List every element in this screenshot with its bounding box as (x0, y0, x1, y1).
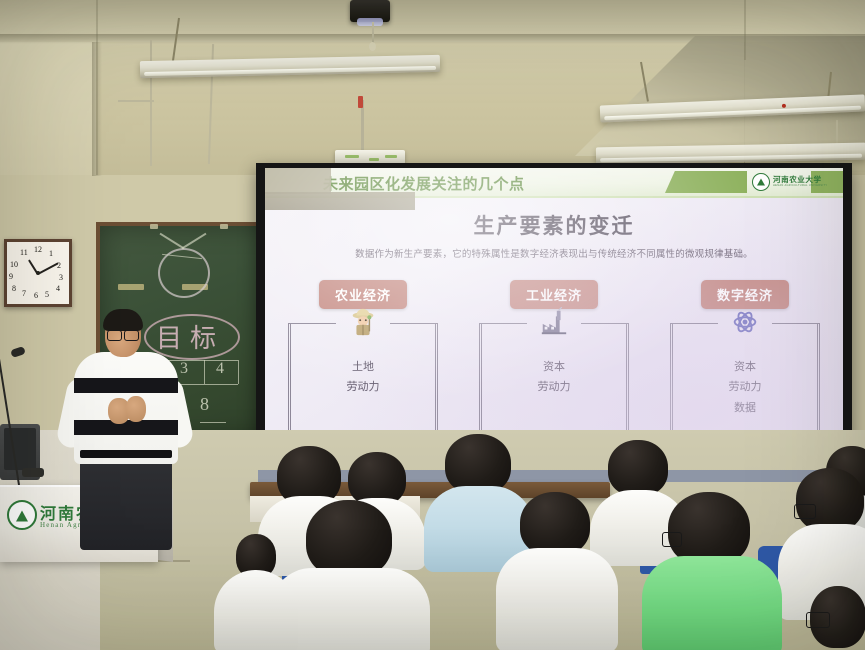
university-seal-icon (7, 500, 37, 530)
card-digital-economy: 数字经济 资本 劳动力 数据 (665, 280, 825, 435)
projector-cord (372, 22, 374, 44)
clock-numeral: 7 (22, 289, 26, 298)
lecturer-hand-right (126, 396, 146, 422)
wall-seam (96, 0, 98, 175)
university-name-cn: 河南农业大学 (773, 176, 827, 184)
chalk-number: 3 (180, 360, 188, 378)
projector-cord-weight (369, 42, 376, 51)
card-items: 土地 劳动力 (288, 357, 438, 398)
wall-conduit (150, 40, 152, 166)
clock-numeral: 10 (10, 260, 18, 269)
clock-numeral: 5 (45, 290, 49, 299)
card-bracket: 资本 劳动力 (479, 317, 629, 435)
slide-subtitle: 数据作为新生产要素，它的特殊属性是数字经济表现出与传统经济不同属性的微观规律基础… (299, 248, 809, 261)
card-agricultural-economy: 农业经济 土地 劳动力 (283, 280, 443, 435)
clock-numeral: 6 (34, 291, 38, 300)
university-name-en: HENAN AGRICULTURAL UNIVERSITY (773, 185, 827, 188)
card-bracket: 土地 劳动力 (288, 317, 438, 435)
factory-icon (539, 307, 569, 337)
microphone-base (22, 468, 44, 477)
slide-header-title: 未来园区化发展关注的几个点 (323, 173, 525, 194)
university-logo: 河南农业大学 HENAN AGRICULTURAL UNIVERSITY (752, 172, 808, 192)
lecturer-trousers (80, 455, 172, 550)
header-chevron-shape (665, 171, 747, 193)
card-items: 资本 劳动力 数据 (670, 357, 820, 418)
projector-washout-patch (265, 168, 331, 194)
clock-center-pin (36, 271, 40, 275)
clock-numeral: 3 (59, 273, 63, 282)
clock-numeral: 11 (20, 248, 28, 257)
card-items: 资本 劳动力 (479, 357, 629, 398)
ceiling-projector (350, 0, 390, 22)
university-seal-icon (752, 173, 770, 191)
lecturer-glasses (107, 330, 139, 339)
projector-washout-band (265, 192, 415, 210)
eyeglasses-icon (794, 504, 816, 519)
lecturer-belt (80, 450, 172, 458)
wall-seam (744, 0, 746, 60)
microphone-head (10, 346, 26, 358)
wall-clock: 12 1 2 3 4 5 6 7 8 9 10 11 (4, 239, 72, 307)
card-bracket: 资本 劳动力 数据 (670, 317, 820, 435)
clock-numeral: 12 (34, 245, 42, 254)
wall-conduit (118, 100, 154, 102)
card-label: 农业经济 (319, 280, 407, 309)
projection-screen: 未来园区化发展关注的几个点 河南农业大学 HENAN AGRICULTURAL … (265, 168, 843, 453)
lecture-hall-photo: 12 1 2 3 4 5 6 7 8 9 10 11 目标 (0, 0, 865, 650)
clock-numeral: 4 (56, 284, 60, 293)
eyeglasses-icon (806, 612, 830, 628)
card-label: 工业经济 (510, 280, 598, 309)
clock-numeral: 1 (49, 249, 53, 258)
screen-top-housing (335, 150, 405, 164)
slide-title: 生产要素的变迁 (265, 210, 843, 240)
mount-bracket (358, 96, 363, 108)
card-label: 数字经济 (701, 280, 789, 309)
clock-numeral: 9 (9, 272, 13, 281)
atom-icon (730, 307, 760, 337)
chalk-number: 8 (200, 394, 209, 415)
card-industrial-economy: 工业经济 资本 劳动力 (474, 280, 634, 435)
lecturer-hair (103, 309, 143, 331)
clock-minute-hand (38, 262, 59, 275)
chalk-text-goal: 目标 (156, 318, 224, 355)
farmer-icon (348, 307, 378, 337)
chalk-number: 4 (216, 360, 224, 378)
clock-numeral: 8 (12, 284, 16, 293)
slide-cards-row: 农业经济 土地 劳动力 (283, 280, 825, 435)
eyeglasses-icon (662, 532, 682, 547)
